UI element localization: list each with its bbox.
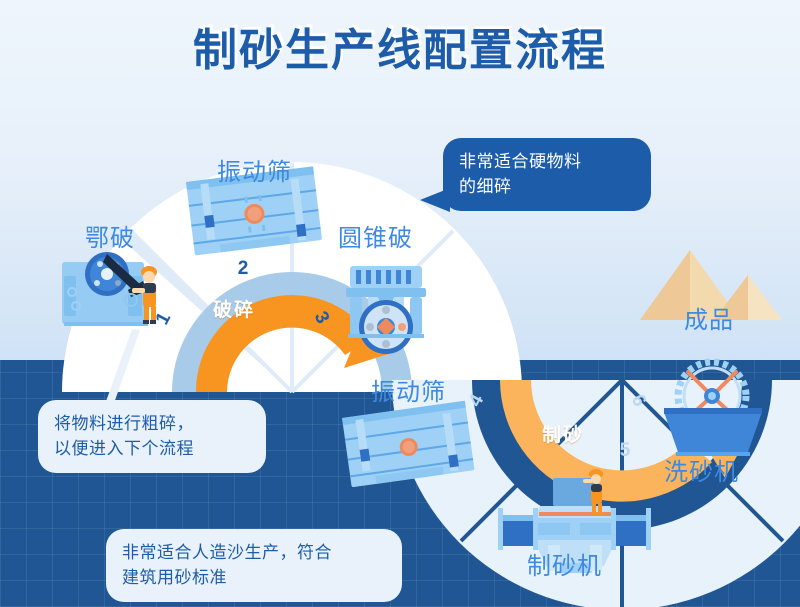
callout-line: 非常适合硬物料	[459, 150, 635, 175]
product-label: 成品	[684, 300, 734, 335]
arc-label-crushing: 破碎	[213, 295, 255, 322]
arc-label-sand-making: 制砂	[542, 420, 584, 447]
callout-line: 以便进入下个流程	[54, 437, 250, 462]
infographic-canvas: 制砂生产线配置流程	[0, 0, 800, 607]
step-label-cone-crusher: 圆锥破	[338, 218, 413, 253]
step-label-vibrating-screen-bottom: 振动筛	[371, 372, 446, 407]
callout-sand-machine-note: 非常适合人造沙生产，符合 建筑用砂标准	[106, 529, 402, 602]
step-number-2: 2	[232, 258, 254, 280]
callout-jaw-crusher-note: 将物料进行粗碎， 以便进入下个流程	[38, 400, 266, 473]
step-label-vibrating-screen-top: 振动筛	[217, 152, 292, 187]
sand-washer-icon	[664, 362, 762, 456]
step-label-sand-making-machine: 制砂机	[527, 546, 602, 581]
callout-line: 非常适合人造沙生产，符合	[122, 541, 386, 566]
callout-cone-crusher-note: 非常适合硬物料 的细碎	[443, 138, 651, 211]
callout-line: 的细碎	[459, 175, 635, 200]
step-label-sand-washer: 洗砂机	[664, 452, 739, 487]
step-number-5: 5	[614, 440, 636, 462]
callout-sand-machine-tail	[366, 556, 396, 588]
callout-line: 将物料进行粗碎，	[54, 412, 250, 437]
callout-cone-crusher-tail	[418, 186, 452, 220]
diagram-vector-layer	[0, 0, 800, 607]
callout-line: 建筑用砂标准	[122, 566, 386, 591]
step-label-jaw-crusher: 鄂破	[85, 218, 135, 253]
